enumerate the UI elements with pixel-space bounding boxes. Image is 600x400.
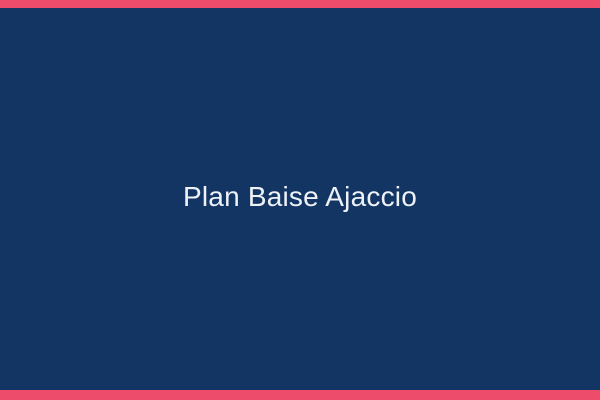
accent-bar-top (0, 0, 600, 8)
accent-bar-bottom (0, 390, 600, 400)
placeholder-card: Plan Baise Ajaccio (0, 0, 600, 400)
page-title: Plan Baise Ajaccio (183, 183, 417, 211)
caption-area: Plan Baise Ajaccio (0, 0, 600, 400)
